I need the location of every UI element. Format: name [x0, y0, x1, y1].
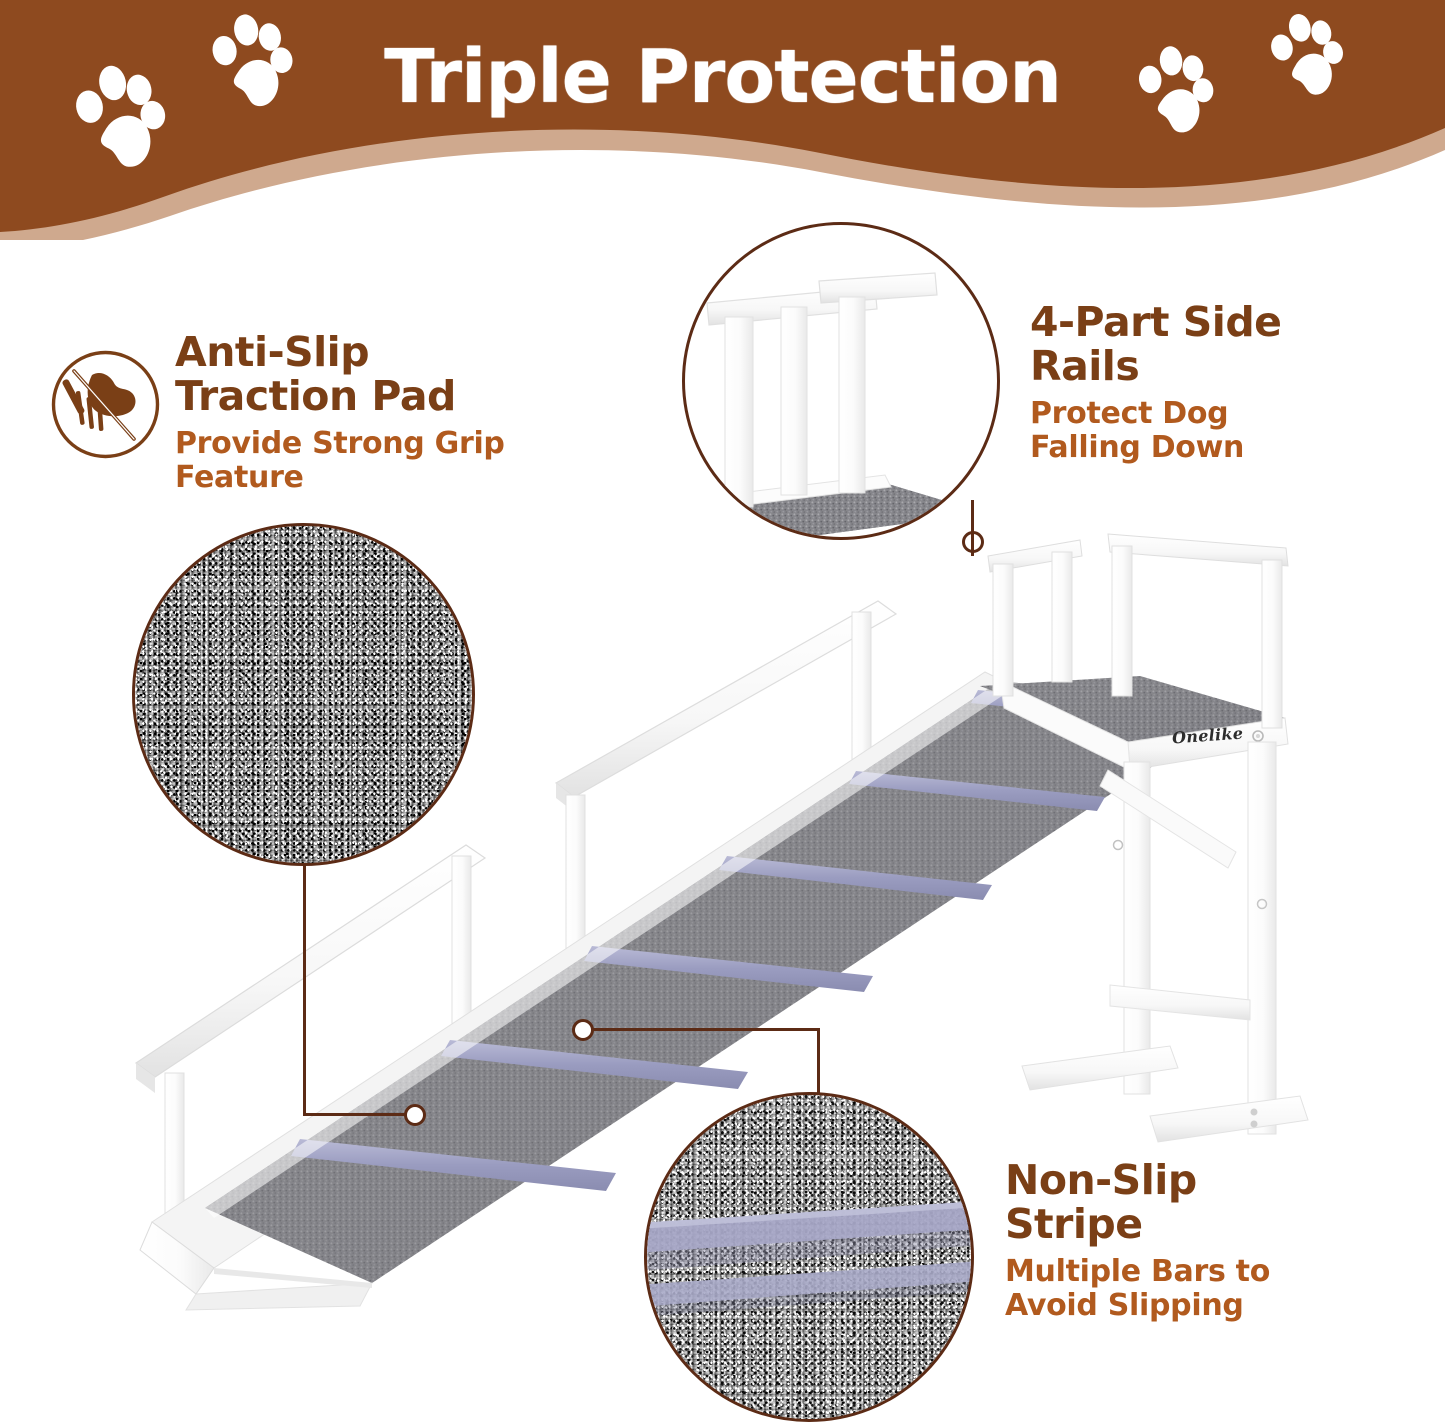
rail-post — [781, 307, 807, 495]
leader-dot-texture — [404, 1104, 426, 1126]
feature-title-line: Stripe — [1005, 1202, 1425, 1246]
feature-title-line: Rails — [1030, 344, 1390, 388]
feature-title-line: Traction Pad — [175, 374, 575, 418]
feature-subtitle-line: Avoid Slipping — [1005, 1289, 1425, 1324]
feature-title-line: Non-Slip — [1005, 1158, 1425, 1202]
feature-title-line: 4-Part Side — [1030, 300, 1390, 344]
feature-non-slip-stripe: Non-Slip Stripe Multiple Bars to Avoid S… — [1005, 1158, 1425, 1324]
feature-anti-slip: Anti-Slip Traction Pad Provide Strong Gr… — [175, 330, 575, 496]
feature-side-rails: 4-Part Side Rails Protect Dog Falling Do… — [1030, 300, 1390, 466]
feature-subtitle-line: Feature — [175, 461, 575, 496]
non-slip-stripe-detail-circle — [644, 1092, 974, 1422]
leader-line-stripe-vertical — [817, 1028, 820, 1096]
feature-subtitle-line: Provide Strong Grip — [175, 427, 575, 462]
leader-line-stripe-horizontal — [590, 1028, 820, 1031]
no-slip-shoe-icon — [48, 347, 163, 462]
feature-title-line: Anti-Slip — [175, 330, 575, 374]
rail-post — [839, 297, 865, 493]
leader-dot-stripe — [572, 1019, 594, 1041]
stripe-overlay — [647, 1095, 971, 1419]
carpet-loop-texture — [135, 526, 472, 863]
rail-post — [725, 317, 753, 507]
side-rail-detail-circle — [682, 222, 1000, 540]
side-rail-detail-art — [685, 225, 997, 537]
feature-subtitle-line: Falling Down — [1030, 431, 1390, 466]
rail-top-bar — [819, 273, 937, 303]
feature-subtitle-line: Protect Dog — [1030, 397, 1390, 432]
leader-line-texture-vertical — [303, 862, 306, 1116]
feature-subtitle-line: Multiple Bars to — [1005, 1255, 1425, 1290]
traction-pad-texture-circle — [132, 523, 475, 866]
leader-dot-rails — [962, 531, 984, 553]
